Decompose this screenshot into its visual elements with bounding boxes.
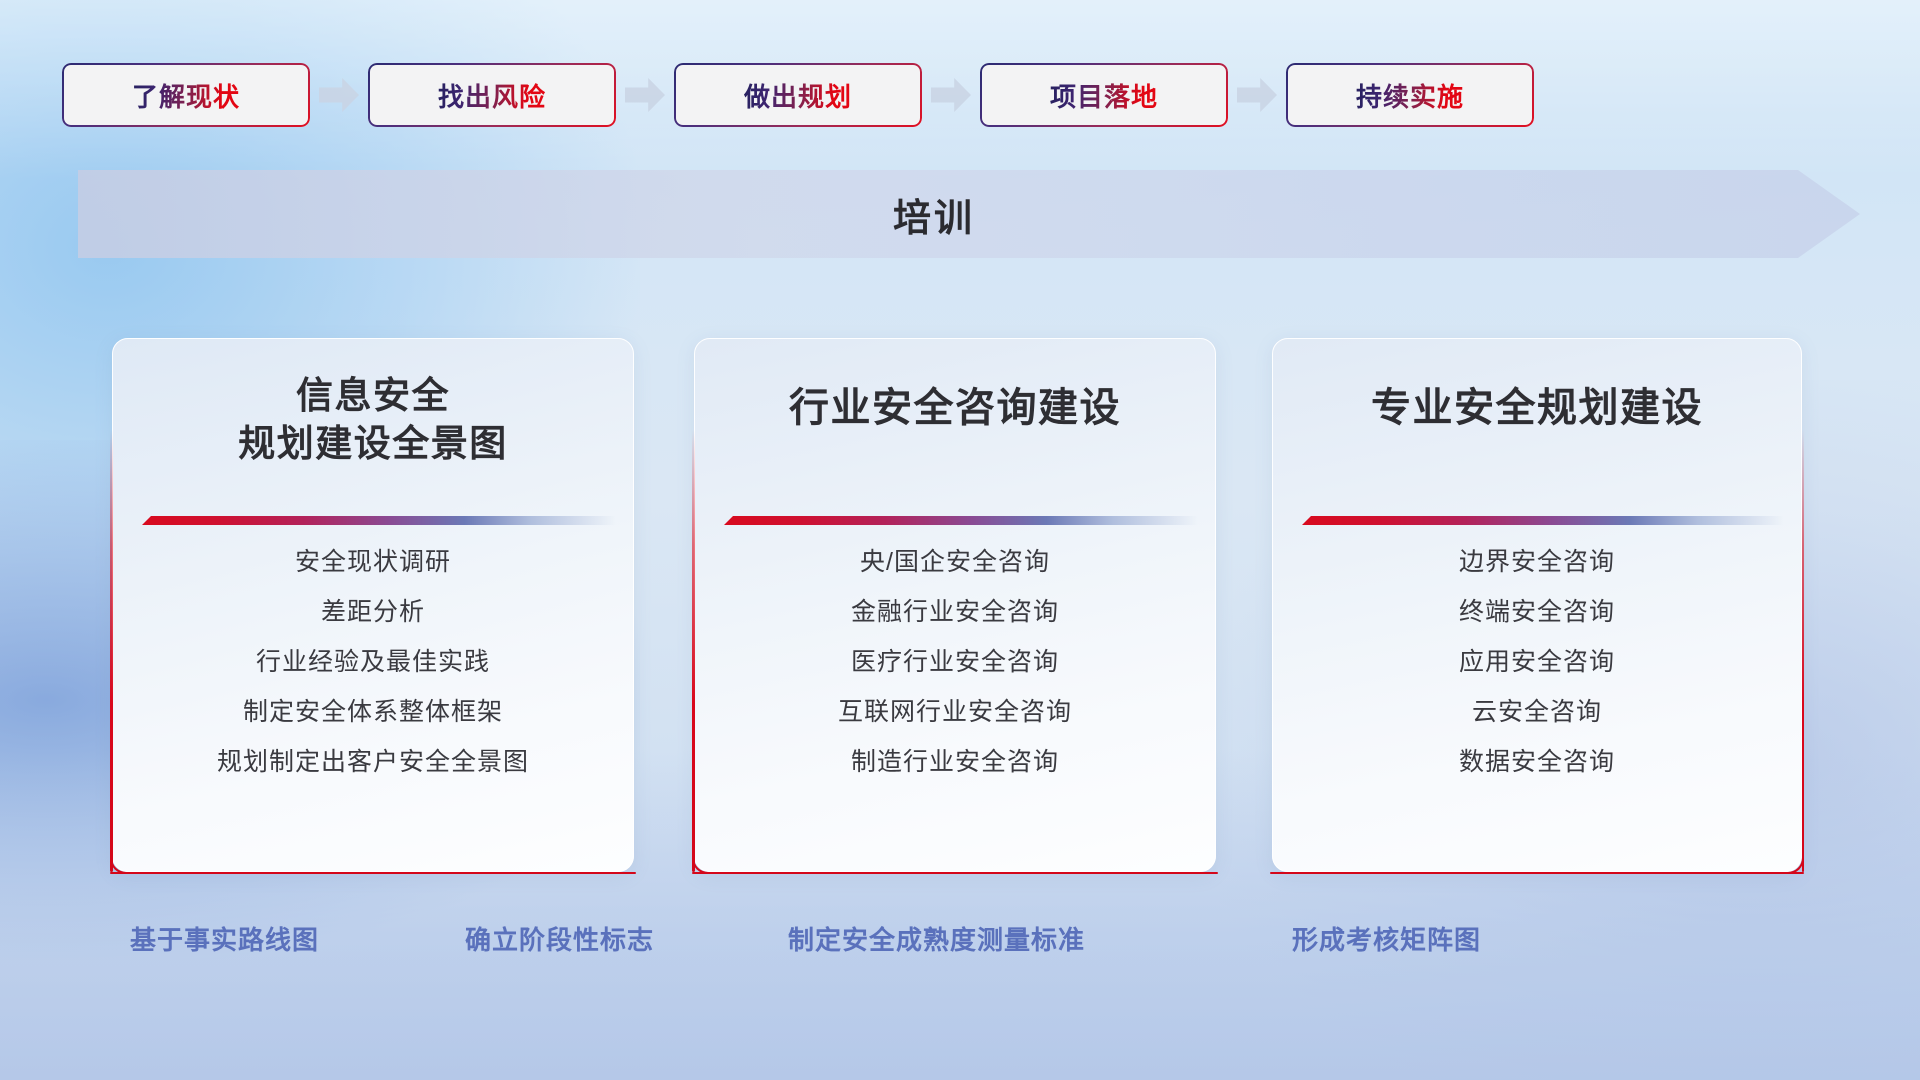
list-item: 应用安全咨询 — [1272, 650, 1802, 675]
card-title-2-line1: 行业安全咨询建设 — [720, 382, 1190, 434]
step-label-1: 了解现状 — [132, 77, 240, 114]
step-box-3[interactable]: 做出规划 — [674, 63, 922, 127]
card-row: 信息安全 规划建设全景图 安全现状调研 差距分析 行业经验及最佳实践 制定安全体… — [0, 338, 1920, 878]
step-label-2: 找出风险 — [438, 77, 546, 114]
footer-label-2: 确立阶段性标志 — [465, 920, 654, 957]
list-item: 差距分析 — [112, 600, 634, 625]
arrow-right-icon-3 — [931, 78, 971, 112]
card-divider-2 — [724, 516, 1198, 525]
card-accent-corner-bl-2 — [692, 852, 714, 874]
card-accent-bottom-2 — [692, 872, 1218, 875]
list-item: 数据安全咨询 — [1272, 750, 1802, 775]
list-item: 云安全咨询 — [1272, 700, 1802, 725]
footer-label-3: 制定安全成熟度测量标准 — [788, 920, 1085, 957]
list-item: 央/国企安全咨询 — [694, 550, 1216, 575]
footer-label-4: 形成考核矩阵图 — [1292, 920, 1481, 957]
card-accent-bottom-1 — [110, 872, 636, 875]
step-label-3: 做出规划 — [744, 77, 852, 114]
list-item: 安全现状调研 — [112, 550, 634, 575]
list-item: 终端安全咨询 — [1272, 600, 1802, 625]
arrow-right-icon-4 — [1237, 78, 1277, 112]
card-list-1: 安全现状调研 差距分析 行业经验及最佳实践 制定安全体系整体框架 规划制定出客户… — [112, 550, 634, 800]
footer-label-1: 基于事实路线图 — [130, 920, 319, 957]
arrow-right-icon-1 — [319, 78, 359, 112]
card-title-1-line2: 规划建设全景图 — [138, 420, 608, 468]
card-title-2: 行业安全咨询建设 — [694, 338, 1216, 434]
card-divider-1 — [142, 516, 616, 525]
card-list-3: 边界安全咨询 终端安全咨询 应用安全咨询 云安全咨询 数据安全咨询 — [1272, 550, 1802, 800]
banner-label: 培训 — [78, 170, 1860, 258]
card-accent-bottom-3 — [1270, 872, 1804, 875]
card-title-1: 信息安全 规划建设全景图 — [112, 338, 634, 468]
list-item: 边界安全咨询 — [1272, 550, 1802, 575]
step-box-5[interactable]: 持续实施 — [1286, 63, 1534, 127]
list-item: 医疗行业安全咨询 — [694, 650, 1216, 675]
step-box-2[interactable]: 找出风险 — [368, 63, 616, 127]
card-accent-corner-bl-1 — [110, 852, 132, 874]
list-item: 金融行业安全咨询 — [694, 600, 1216, 625]
card-title-3: 专业安全规划建设 — [1272, 338, 1802, 434]
list-item: 规划制定出客户安全全景图 — [112, 750, 634, 775]
footer-labels: 基于事实路线图 确立阶段性标志 制定安全成熟度测量标准 形成考核矩阵图 — [0, 920, 1920, 980]
arrow-right-icon-2 — [625, 78, 665, 112]
card-title-3-line1: 专业安全规划建设 — [1298, 382, 1776, 434]
card-panorama[interactable]: 信息安全 规划建设全景图 安全现状调研 差距分析 行业经验及最佳实践 制定安全体… — [112, 338, 634, 872]
step-box-1[interactable]: 了解现状 — [62, 63, 310, 127]
list-item: 行业经验及最佳实践 — [112, 650, 634, 675]
card-title-1-line1: 信息安全 — [138, 372, 608, 420]
card-divider-3 — [1302, 516, 1784, 525]
process-steps: 了解现状 找出风险 做出规划 项目落地 持续实施 — [62, 62, 1858, 128]
card-accent-corner-br-3 — [1782, 852, 1804, 874]
step-label-5: 持续实施 — [1356, 77, 1464, 114]
card-list-2: 央/国企安全咨询 金融行业安全咨询 医疗行业安全咨询 互联网行业安全咨询 制造行… — [694, 550, 1216, 800]
step-box-4[interactable]: 项目落地 — [980, 63, 1228, 127]
list-item: 制造行业安全咨询 — [694, 750, 1216, 775]
card-professional-planning[interactable]: 专业安全规划建设 边界安全咨询 终端安全咨询 应用安全咨询 云安全咨询 数据安全… — [1272, 338, 1802, 872]
training-banner: 培训 — [78, 170, 1860, 258]
list-item: 互联网行业安全咨询 — [694, 700, 1216, 725]
step-label-4: 项目落地 — [1050, 77, 1158, 114]
list-item: 制定安全体系整体框架 — [112, 700, 634, 725]
card-industry-consulting[interactable]: 行业安全咨询建设 央/国企安全咨询 金融行业安全咨询 医疗行业安全咨询 互联网行… — [694, 338, 1216, 872]
